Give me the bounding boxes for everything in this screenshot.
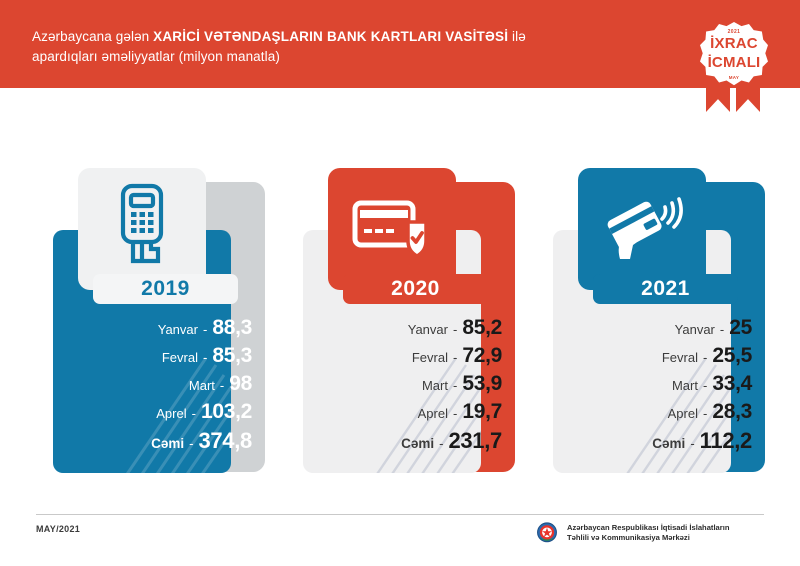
row-label: Yanvar bbox=[408, 322, 448, 337]
row-label: Fevral bbox=[662, 350, 698, 365]
row-separator: - bbox=[453, 406, 457, 421]
data-row: Yanvar - 88,3 bbox=[158, 316, 252, 344]
header-banner: Azərbaycana gələn XARİCİ VƏTƏNDAŞLARIN B… bbox=[0, 0, 800, 88]
row-value: 85,2 bbox=[462, 316, 502, 340]
row-label: Cəmi bbox=[401, 436, 434, 451]
footer-organization: Azərbaycan Respublikası İqtisadi İslahat… bbox=[534, 520, 729, 546]
badge-line-1: İXRAC bbox=[700, 35, 768, 52]
row-value: 88,3 bbox=[212, 316, 252, 340]
row-separator: - bbox=[453, 350, 457, 365]
data-row: Fevral - 85,3 bbox=[162, 344, 252, 372]
row-label: Aprel bbox=[156, 406, 186, 421]
badge-line-2: İCMALI bbox=[700, 54, 768, 71]
row-label: Mart bbox=[672, 378, 698, 393]
data-rows: Yanvar - 85,2 Fevral - 72,9 Mart - 53,9 … bbox=[290, 316, 520, 456]
page-title: Azərbaycana gələn XARİCİ VƏTƏNDAŞLARIN B… bbox=[32, 27, 592, 67]
row-label: Yanvar bbox=[158, 322, 198, 337]
row-value: 374,8 bbox=[198, 428, 252, 454]
data-rows: Yanvar - 25 Fevral - 25,5 Mart - 33,4 Ap… bbox=[540, 316, 770, 456]
row-label: Yanvar bbox=[675, 322, 715, 337]
year-card-2021: 2021 Yanvar - 25 Fevral - 25,5 Mart - 33… bbox=[540, 168, 770, 478]
year-card-2019: 2019 Yanvar - 88,3 Fevral - 85,3 Mart - … bbox=[40, 168, 270, 478]
row-separator: - bbox=[453, 322, 457, 337]
row-separator: - bbox=[703, 378, 707, 393]
title-prefix: Azərbaycana gələn bbox=[32, 29, 153, 44]
data-row: Fevral - 25,5 bbox=[662, 344, 752, 372]
row-value: 72,9 bbox=[462, 344, 502, 368]
data-row-total: Cəmi - 231,7 bbox=[401, 428, 502, 456]
row-separator: - bbox=[703, 350, 707, 365]
row-value: 103,2 bbox=[201, 400, 252, 424]
data-row: Mart - 98 bbox=[189, 372, 252, 400]
data-row-total: Cəmi - 112,2 bbox=[652, 428, 752, 456]
organization-line-2: Təhlili və Kommunikasiya Mərkəzi bbox=[567, 533, 729, 544]
azerbaijan-emblem-icon bbox=[534, 520, 560, 546]
contactless-payment-icon bbox=[578, 168, 706, 290]
row-separator: - bbox=[189, 436, 193, 451]
row-separator: - bbox=[703, 406, 707, 421]
secure-card-icon bbox=[328, 168, 456, 290]
data-row: Mart - 53,9 bbox=[422, 372, 502, 400]
row-label: Mart bbox=[422, 378, 448, 393]
row-separator: - bbox=[192, 406, 196, 421]
year-label-pill: 2019 bbox=[93, 274, 238, 304]
row-label: Fevral bbox=[412, 350, 448, 365]
infographic-page: Azərbaycana gələn XARİCİ VƏTƏNDAŞLARIN B… bbox=[0, 0, 800, 566]
row-value: 98 bbox=[229, 372, 252, 396]
data-row-total: Cəmi - 374,8 bbox=[151, 428, 252, 456]
row-separator: - bbox=[203, 322, 207, 337]
row-value: 85,3 bbox=[212, 344, 252, 368]
row-separator: - bbox=[220, 378, 224, 393]
row-label: Aprel bbox=[418, 406, 448, 421]
organization-name: Azərbaycan Respublikası İqtisadi İslahat… bbox=[567, 523, 729, 544]
ixrac-icmali-badge: 2021 İXRAC İCMALI MAY bbox=[686, 8, 782, 112]
data-row: Aprel - 19,7 bbox=[418, 400, 502, 428]
title-line-2: apardıqları əməliyyatlar (milyon manatla… bbox=[32, 49, 280, 64]
year-label-pill: 2021 bbox=[593, 274, 738, 304]
row-value: 19,7 bbox=[462, 400, 502, 424]
row-separator: - bbox=[453, 378, 457, 393]
data-row: Aprel - 103,2 bbox=[156, 400, 252, 428]
data-row: Yanvar - 25 bbox=[675, 316, 752, 344]
year-label: 2019 bbox=[141, 277, 190, 301]
row-value: 33,4 bbox=[712, 372, 752, 396]
footer-date: MAY/2021 bbox=[36, 524, 80, 534]
data-rows: Yanvar - 88,3 Fevral - 85,3 Mart - 98 Ap… bbox=[40, 316, 270, 456]
year-label: 2020 bbox=[391, 277, 440, 301]
row-separator: - bbox=[439, 436, 443, 451]
row-value: 25,5 bbox=[712, 344, 752, 368]
title-suffix: ilə bbox=[508, 29, 526, 44]
row-separator: - bbox=[720, 322, 724, 337]
year-label: 2021 bbox=[641, 277, 690, 301]
title-emphasis: XARİCİ VƏTƏNDAŞLARIN BANK KARTLARI VASİT… bbox=[153, 29, 508, 44]
row-value: 28,3 bbox=[712, 400, 752, 424]
row-label: Aprel bbox=[668, 406, 698, 421]
year-label-pill: 2020 bbox=[343, 274, 488, 304]
row-value: 112,2 bbox=[700, 428, 752, 454]
row-value: 25 bbox=[729, 316, 752, 340]
row-label: Cəmi bbox=[151, 436, 184, 451]
data-row: Yanvar - 85,2 bbox=[408, 316, 502, 344]
footer-divider bbox=[36, 514, 764, 515]
organization-line-1: Azərbaycan Respublikası İqtisadi İslahat… bbox=[567, 523, 729, 534]
row-separator: - bbox=[690, 436, 694, 451]
row-label: Fevral bbox=[162, 350, 198, 365]
row-value: 231,7 bbox=[448, 428, 502, 454]
data-row: Aprel - 28,3 bbox=[668, 400, 752, 428]
year-card-2020: 2020 Yanvar - 85,2 Fevral - 72,9 Mart - … bbox=[290, 168, 520, 478]
row-label: Cəmi bbox=[652, 436, 685, 451]
pos-terminal-icon bbox=[78, 168, 206, 290]
data-row: Mart - 33,4 bbox=[672, 372, 752, 400]
data-row: Fevral - 72,9 bbox=[412, 344, 502, 372]
badge-month: MAY bbox=[700, 75, 768, 80]
row-separator: - bbox=[203, 350, 207, 365]
row-value: 53,9 bbox=[462, 372, 502, 396]
row-label: Mart bbox=[189, 378, 215, 393]
